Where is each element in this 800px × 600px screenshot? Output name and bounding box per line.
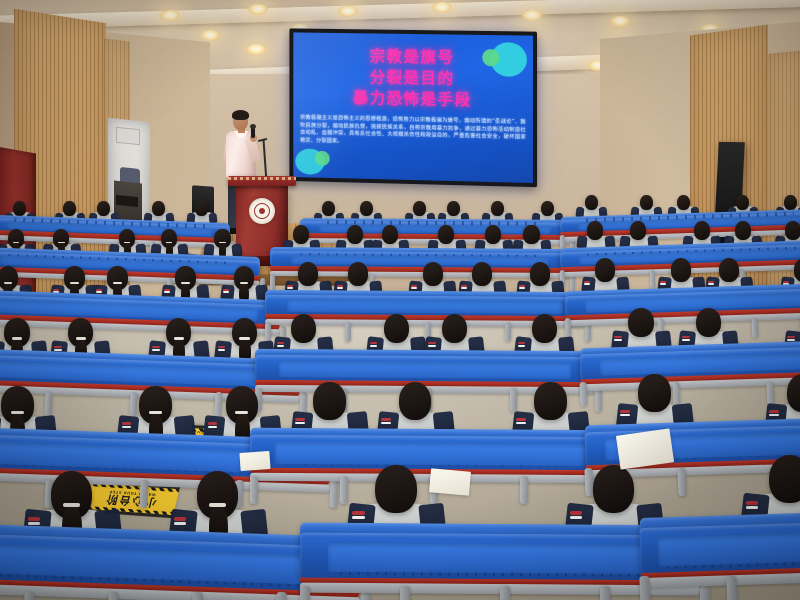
seat-leg-post — [639, 576, 650, 600]
slide-decoration-circle — [315, 151, 330, 166]
seat-leg-post — [579, 382, 587, 406]
student-head — [696, 308, 721, 337]
student-head — [13, 201, 26, 216]
seat-leg-post — [23, 592, 35, 600]
desk-vent-slots — [289, 367, 561, 379]
uniform-red-trim — [352, 511, 364, 515]
desk-surface — [639, 520, 800, 574]
ceiling-downlight — [610, 16, 630, 27]
seat-leg-post — [265, 322, 271, 343]
uniform-white-trim — [287, 287, 293, 289]
uniform-red-trim — [370, 342, 378, 344]
student-head — [322, 201, 335, 216]
student-head — [785, 221, 800, 240]
student-head — [423, 262, 443, 285]
student-head — [541, 201, 554, 216]
student-head — [195, 201, 208, 216]
student-head — [530, 262, 550, 285]
uniform-white-trim — [787, 339, 795, 341]
uniform-red-trim — [682, 336, 690, 338]
student-head — [769, 455, 800, 503]
uniform-white-trim — [174, 522, 186, 525]
student-head — [384, 314, 409, 343]
seat-leg-post — [673, 382, 681, 406]
student-head — [399, 382, 432, 420]
seat-leg-post — [107, 592, 119, 600]
uniform-red-trim — [28, 517, 40, 521]
uniform-white-trim — [518, 345, 526, 347]
seat-leg-post — [44, 392, 52, 416]
uniform-white-trim — [461, 287, 467, 289]
uniform-white-trim — [746, 506, 758, 509]
seat-leg-post — [505, 322, 511, 343]
seat-leg-post — [329, 480, 339, 508]
hair-tie — [240, 282, 248, 284]
seat-leg-post — [726, 576, 737, 600]
student-head — [630, 221, 646, 240]
student-head — [447, 201, 460, 216]
uniform-red-trim — [746, 501, 758, 505]
desk-surface — [255, 355, 595, 383]
uniform-white-trim — [428, 345, 436, 347]
student-head — [671, 258, 691, 281]
uniform-white-trim — [164, 291, 170, 293]
uniform-white-trim — [352, 516, 364, 519]
hair-tie — [70, 282, 78, 284]
uniform-white-trim — [295, 422, 305, 425]
student-head — [375, 465, 417, 513]
uniform-white-trim — [519, 287, 525, 289]
paper-on-desk — [239, 451, 270, 471]
student-head — [628, 308, 653, 337]
seat-leg-post — [129, 392, 137, 416]
hair-tie — [181, 282, 189, 284]
seat-leg-post — [520, 476, 529, 504]
seat-leg-post — [250, 476, 259, 504]
ceiling-downlight — [522, 10, 542, 21]
student-head — [382, 225, 398, 244]
uniform-red-trim — [516, 418, 526, 421]
student-head — [293, 225, 309, 244]
hair-tie — [113, 282, 121, 284]
hair-tie — [174, 337, 184, 340]
podium-crest-center — [259, 208, 265, 214]
desk-vent-slots — [340, 565, 660, 577]
desk-vent-slots — [297, 301, 553, 313]
student-head — [736, 195, 749, 210]
uniform-white-trim — [277, 345, 285, 347]
hair-tie — [12, 337, 22, 340]
student-head — [491, 201, 504, 216]
uniform-white-trim — [218, 349, 226, 351]
seat-leg-post — [510, 388, 517, 412]
uniform-red-trim — [152, 346, 160, 348]
student-head — [360, 201, 373, 216]
uniform-white-trim — [122, 426, 132, 429]
projection-screen-bezel: 宗教是旗号 分裂是目的 暴力恐怖是手段 宗教极端主义是恐怖主义的思想根源，恐怖势… — [289, 28, 537, 187]
seat-leg-post — [191, 592, 203, 600]
uniform-red-trim — [570, 511, 582, 515]
student-head — [694, 221, 710, 240]
student-head — [485, 225, 501, 244]
uniform-white-trim — [614, 339, 622, 341]
uniform-white-trim — [381, 422, 391, 425]
desk-vent-slots — [286, 455, 574, 467]
seat-leg-post — [751, 318, 758, 339]
student-head — [313, 382, 346, 420]
uniform-white-trim — [570, 516, 582, 519]
uniform-white-trim — [708, 283, 714, 285]
uniform-red-trim — [614, 336, 622, 338]
uniform-red-trim — [54, 346, 62, 348]
student-head — [587, 221, 603, 240]
ceiling-downlight — [200, 30, 220, 41]
student-head — [348, 262, 368, 285]
seat-leg-post — [275, 592, 287, 600]
hair-tie — [58, 242, 64, 244]
student-head — [472, 262, 492, 285]
ceiling-downlight — [432, 2, 452, 13]
desk-vent-slots — [666, 553, 800, 570]
uniform-red-trim — [295, 418, 305, 421]
lecture-hall-photo: 宗教是旗号 分裂是目的 暴力恐怖是手段 宗教极端主义是恐怖主义的思想根源，恐怖势… — [0, 0, 800, 600]
slide-title: 宗教是旗号 分裂是目的 暴力恐怖是手段 — [293, 45, 533, 112]
student-head — [593, 465, 635, 513]
uniform-white-trim — [28, 522, 40, 525]
student-head — [63, 201, 76, 216]
student-head — [347, 225, 363, 244]
student-head — [291, 314, 316, 343]
student-head — [97, 201, 110, 216]
uniform-white-trim — [370, 345, 378, 347]
uniform-white-trim — [152, 349, 160, 351]
seat-leg-post — [300, 586, 310, 600]
seat-leg-post — [340, 476, 349, 504]
seat-leg-post — [595, 388, 602, 412]
uniform-red-trim — [218, 346, 226, 348]
hair-tie — [166, 242, 172, 244]
uniform-white-trim — [620, 414, 630, 417]
seat-leg-post — [214, 392, 222, 416]
uniform-white-trim — [584, 283, 590, 285]
desk-surface — [265, 295, 585, 317]
seat-leg-post — [766, 382, 774, 406]
presenter-hair — [232, 110, 249, 120]
student-head — [640, 195, 653, 210]
seat-leg-post — [600, 586, 610, 600]
uniform-white-trim — [96, 291, 102, 293]
hair-tie — [149, 411, 162, 414]
student-head — [638, 374, 671, 412]
uniform-red-trim — [428, 342, 436, 344]
student-head — [677, 195, 690, 210]
uniform-white-trim — [516, 422, 526, 425]
student-head — [532, 314, 557, 343]
student-head — [152, 201, 165, 216]
uniform-red-trim — [174, 517, 186, 521]
uniform-red-trim — [381, 418, 391, 421]
uniform-white-trim — [411, 287, 417, 289]
student-head — [523, 225, 539, 244]
ceiling-downlight — [338, 6, 358, 17]
slide-body-text: 宗教极端主义是恐怖主义的思想根源，恐怖势力以宗教极端为旗号，煽动所谓的“圣战论”… — [300, 115, 526, 150]
uniform-white-trim — [208, 426, 218, 429]
student-head — [719, 258, 739, 281]
air-conditioner-unit — [116, 127, 140, 146]
student-head — [784, 195, 797, 210]
ceiling-downlight — [246, 44, 266, 55]
desk-vent-slots — [300, 253, 540, 265]
ceiling-trim-band — [0, 0, 800, 31]
seat-leg-post — [500, 586, 510, 600]
projection-screen: 宗教是旗号 分裂是目的 暴力恐怖是手段 宗教极端主义是恐怖主义的思想根源，恐怖势… — [293, 32, 533, 183]
hair-tie — [63, 503, 80, 507]
student-head — [442, 314, 467, 343]
hair-tie — [235, 411, 248, 414]
uniform-red-trim — [620, 410, 630, 413]
paper-on-desk — [429, 468, 471, 495]
student-head — [585, 195, 598, 210]
desk-surface — [250, 435, 610, 472]
uniform-white-trim — [223, 291, 229, 293]
seat-leg-post — [400, 586, 410, 600]
uniform-white-trim — [769, 414, 779, 417]
seat-leg-post — [650, 270, 656, 288]
slide-title-line: 暴力恐怖是手段 — [293, 87, 533, 112]
hair-tie — [13, 242, 19, 244]
hair-tie — [4, 282, 12, 284]
hair-tie — [124, 242, 130, 244]
hair-tie — [239, 337, 249, 340]
uniform-red-trim — [769, 410, 779, 413]
uniform-red-trim — [208, 422, 218, 425]
uniform-white-trim — [337, 287, 343, 289]
uniform-red-trim — [787, 336, 795, 338]
uniform-red-trim — [277, 342, 285, 344]
uniform-white-trim — [682, 339, 690, 341]
student-head — [298, 262, 318, 285]
hair-tie — [11, 411, 24, 414]
uniform-red-trim — [122, 422, 132, 425]
hair-tie — [76, 337, 86, 340]
uniform-white-trim — [660, 283, 666, 285]
student-head — [534, 382, 567, 420]
seat-leg-post — [139, 480, 149, 508]
hair-tie — [209, 503, 226, 507]
student-head — [595, 258, 615, 281]
seat-leg-post — [700, 586, 710, 600]
microphone-head-icon — [250, 124, 256, 129]
student-head — [413, 201, 426, 216]
hair-tie — [219, 242, 225, 244]
ceiling-downlight — [160, 10, 180, 21]
student-head — [438, 225, 454, 244]
podium-top-trim — [228, 177, 296, 180]
ceiling-downlight — [248, 4, 268, 15]
student-head — [735, 221, 751, 240]
uniform-red-trim — [518, 342, 526, 344]
seat-leg-post — [345, 322, 351, 343]
